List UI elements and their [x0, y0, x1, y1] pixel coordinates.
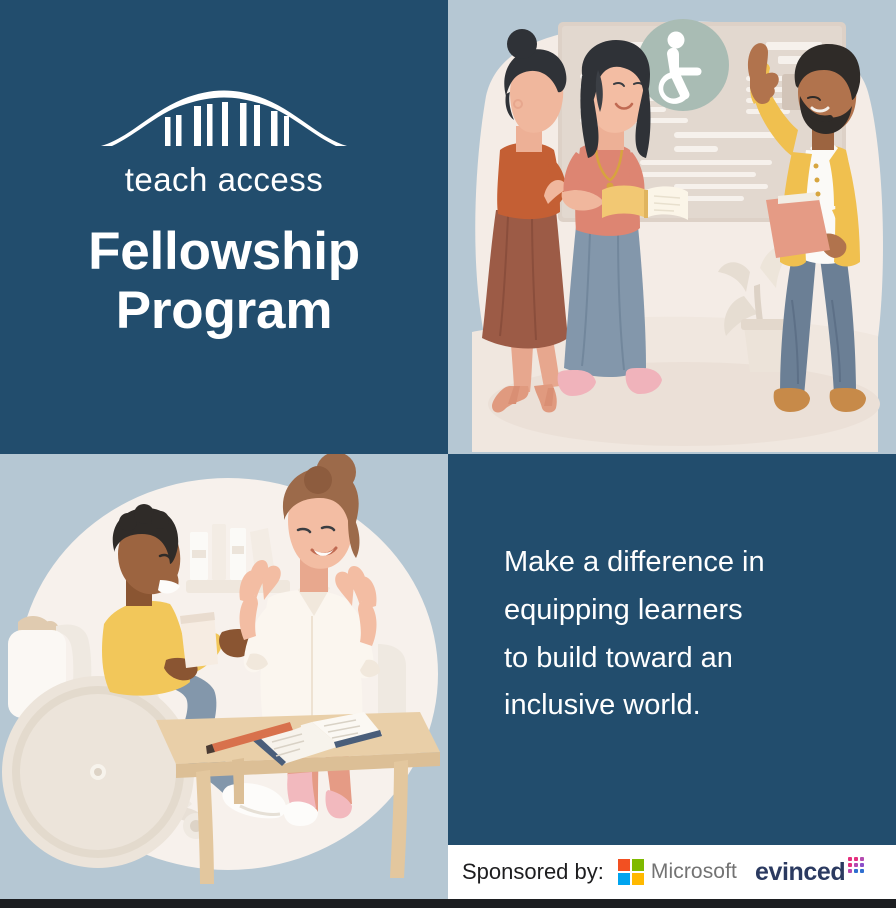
evinced-sponsor: evinced [755, 857, 865, 888]
illustration-bottom-left [0, 454, 448, 899]
three-people-at-accessibility-poster-graphic [448, 0, 896, 454]
bottom-rule [0, 899, 896, 908]
tagline-line-4: inclusive world. [504, 682, 765, 730]
evinced-wordmark: evinced [755, 858, 845, 887]
microsoft-logo-icon [618, 859, 644, 885]
tagline-line-1: Make a difference in [504, 539, 765, 587]
brand-lockup: teach access Fellowship Program [0, 0, 448, 454]
sponsored-by-label: Sponsored by: [462, 859, 604, 885]
wheelchair-user-and-mentor-at-desk-graphic [0, 454, 448, 899]
wheelchair-accessibility-icon [637, 19, 729, 111]
tagline-line-2: equipping learners [504, 587, 765, 635]
evinced-logo-icon [848, 857, 865, 879]
page-title-line-2: Program [88, 281, 360, 340]
microsoft-sponsor: Microsoft [618, 859, 737, 885]
sponsor-bar: Sponsored by: Microsoft evinced [448, 845, 896, 899]
tagline-line-3: to build toward an [504, 635, 765, 683]
tagline-block: Make a difference in equipping learners … [448, 454, 896, 845]
teach-access-fellowship-poster: teach access Fellowship Program [0, 0, 896, 908]
illustration-top-right [448, 0, 896, 454]
teach-access-bridge-logo-icon [99, 86, 349, 153]
microsoft-wordmark: Microsoft [651, 860, 737, 884]
page-title: Fellowship Program [88, 222, 360, 341]
brand-wordmark: teach access [125, 163, 324, 196]
page-title-line-1: Fellowship [88, 222, 360, 281]
brand-panel: teach access Fellowship Program [0, 0, 448, 454]
tagline-text: Make a difference in equipping learners … [504, 539, 765, 730]
